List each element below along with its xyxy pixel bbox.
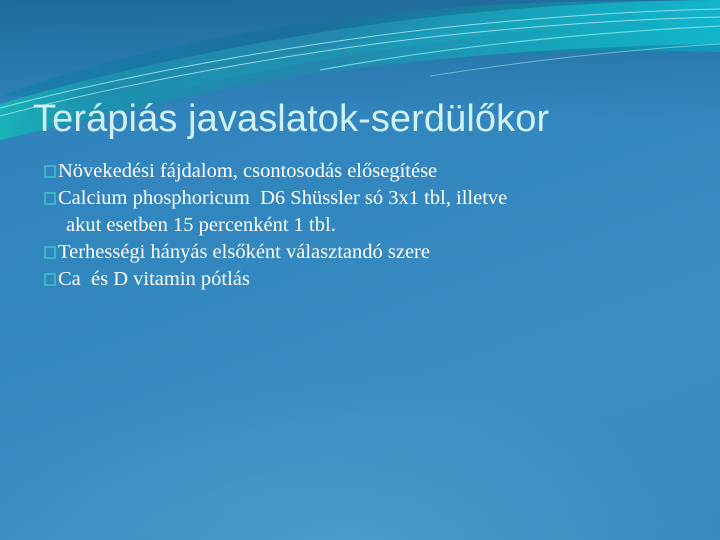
bullet-marker-icon: [44, 273, 56, 286]
bullet-item: Ca és D vitamin pótlás: [44, 266, 684, 293]
bullet-item-wrapped-line: akut esetben 15 percenként 1 tbl.: [44, 212, 684, 239]
slide-body-bullet-list: Növekedési fájdalom, csontosodás elősegí…: [44, 158, 684, 293]
bullet-item: Terhességi hányás elsőként választandó s…: [44, 239, 684, 266]
bullet-text: Terhességi hányás elsőként választandó s…: [58, 241, 430, 263]
slide-title: Terápiás javaslatok-serdülőkor: [33, 96, 693, 142]
bullet-marker-icon: [44, 165, 56, 178]
bullet-text: Ca és D vitamin pótlás: [58, 268, 250, 290]
bullet-item: Calcium phosphoricum D6 Shüssler só 3x1 …: [44, 185, 684, 212]
presentation-slide: Terápiás javaslatok-serdülőkor Növekedés…: [0, 0, 720, 540]
bullet-item: Növekedési fájdalom, csontosodás elősegí…: [44, 158, 684, 185]
bullet-marker-icon: [44, 246, 56, 259]
bullet-marker-icon: [44, 192, 56, 205]
bullet-text: Növekedési fájdalom, csontosodás elősegí…: [58, 160, 437, 182]
bullet-text: Calcium phosphoricum D6 Shüssler só 3x1 …: [58, 187, 507, 209]
bullet-text: akut esetben 15 percenként 1 tbl.: [66, 214, 336, 236]
